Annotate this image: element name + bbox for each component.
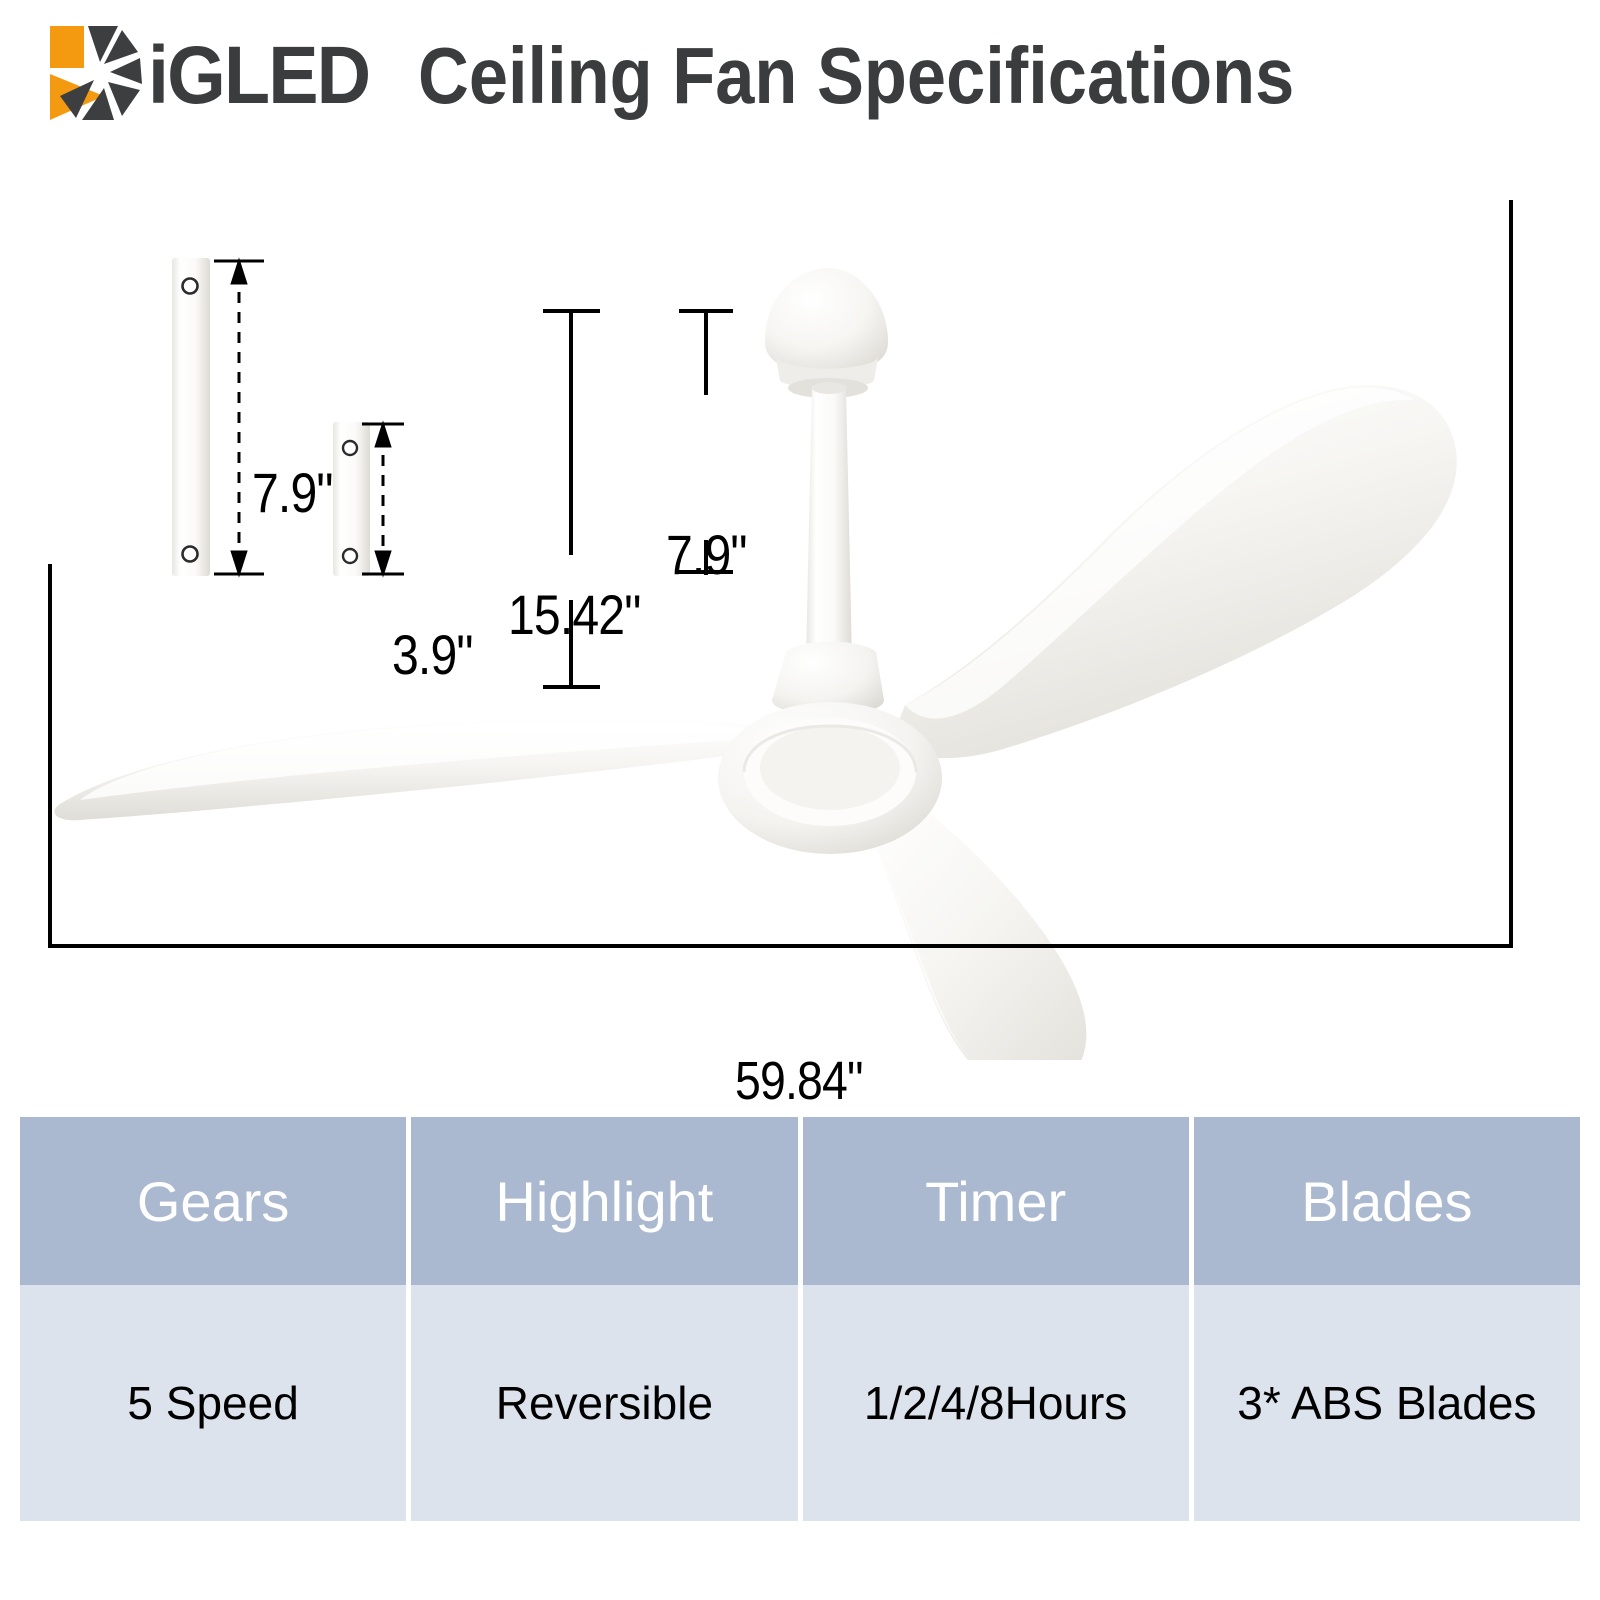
dim-label-downrod-long: 7.9" — [252, 460, 333, 525]
page-title: Ceiling Fan Specifications — [418, 26, 1294, 126]
product-diagram: 7.9" 3.9" 15.42" 7.9" 59.84" — [0, 160, 1600, 1060]
digled-aperture-logo — [48, 22, 150, 124]
dim-label-downrod-short: 3.9" — [392, 622, 473, 687]
table-cell-timer: 1/2/4/8Hours — [803, 1285, 1189, 1521]
table-header-gears: Gears — [20, 1117, 406, 1285]
table-header-timer: Timer — [803, 1117, 1189, 1285]
dim-downrod-long — [214, 259, 264, 576]
brand-wordmark: iGLED — [148, 28, 369, 124]
dim-blade-span — [50, 200, 1511, 948]
dim-label-drop-height: 7.9" — [666, 522, 747, 587]
table-cell-highlight: Reversible — [411, 1285, 797, 1521]
table-header-blades: Blades — [1194, 1117, 1580, 1285]
dimension-annotations — [0, 160, 1600, 1060]
dim-label-total-height: 15.42" — [508, 582, 640, 647]
dim-downrod-short — [362, 422, 404, 576]
table-cell-gears: 5 Speed — [20, 1285, 406, 1521]
page-header: iGLED Ceiling Fan Specifications — [0, 0, 1600, 160]
table-header-highlight: Highlight — [411, 1117, 797, 1285]
dim-label-blade-span: 59.84" — [723, 1050, 875, 1112]
table-cell-blades: 3* ABS Blades — [1194, 1285, 1580, 1521]
specifications-table: Gears Highlight Timer Blades 5 Speed Rev… — [20, 1117, 1580, 1521]
